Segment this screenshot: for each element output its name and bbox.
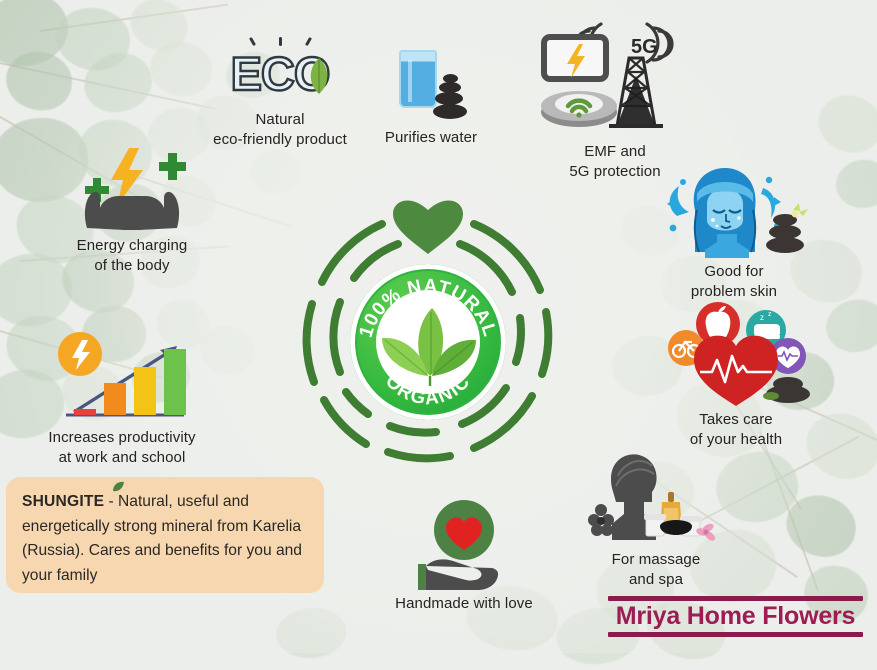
heart-icon [391, 194, 465, 256]
center-emblem: 100% NATURAL ORGANIC [278, 186, 578, 486]
feature-health-caption: Takes care of your health [648, 410, 824, 450]
woman-face-water-splash-icon [659, 164, 809, 260]
feature-water-caption: Purifies water [376, 128, 486, 148]
svg-text:z: z [768, 311, 772, 318]
feature-energy: Energy charging of the body [42, 140, 222, 276]
brand-bar-bottom [608, 632, 863, 637]
eco-leaf-logo-icon: ECO [221, 48, 339, 104]
heart-pulse-health-icons: z z [656, 298, 816, 408]
shungite-title: SHUNGITE [22, 493, 104, 510]
feature-skin-caption: Good for problem skin [648, 262, 820, 302]
leaves-icon [374, 304, 484, 388]
feature-productivity: Increases productivity at work and schoo… [16, 326, 228, 468]
shungite-info-box: SHUNGITE - Natural, useful and energetic… [6, 477, 324, 593]
feature-skin: Good for problem skin [648, 164, 820, 302]
svg-text:z: z [760, 313, 764, 322]
organic-badge: 100% NATURAL ORGANIC [350, 264, 506, 420]
infographic-canvas: ECO Natural eco-friendly product Purifie [0, 0, 877, 653]
feature-health: z z Take [648, 298, 824, 450]
feature-emf-5g-badge: 5G [631, 36, 658, 59]
brand-footer: Mriya Home Flowers [608, 596, 863, 637]
feature-spa: For massage and spa [566, 448, 746, 590]
hands-lightning-icon [67, 140, 197, 232]
feature-emf: 5G EMF and 5G protection [520, 20, 710, 182]
feature-water: Purifies water [376, 48, 486, 148]
feature-energy-caption: Energy charging of the body [42, 236, 222, 276]
feature-productivity-caption: Increases productivity at work and schoo… [16, 428, 228, 468]
spa-woman-bottles-icon [576, 448, 736, 548]
brand-name: Mriya Home Flowers [608, 601, 863, 632]
growth-bar-chart-icon [32, 326, 212, 426]
feature-spa-caption: For massage and spa [566, 550, 746, 590]
feature-handmade-caption: Handmade with love [366, 594, 562, 614]
hand-holding-heart-icon [404, 498, 524, 592]
emf-5g-tower-icon: 5G [535, 20, 695, 140]
water-glass-stones-icon [395, 48, 467, 122]
feature-eco: ECO Natural eco-friendly product [190, 48, 370, 150]
feature-handmade: Handmade with love [366, 498, 562, 614]
small-leaf-icon [111, 481, 125, 493]
